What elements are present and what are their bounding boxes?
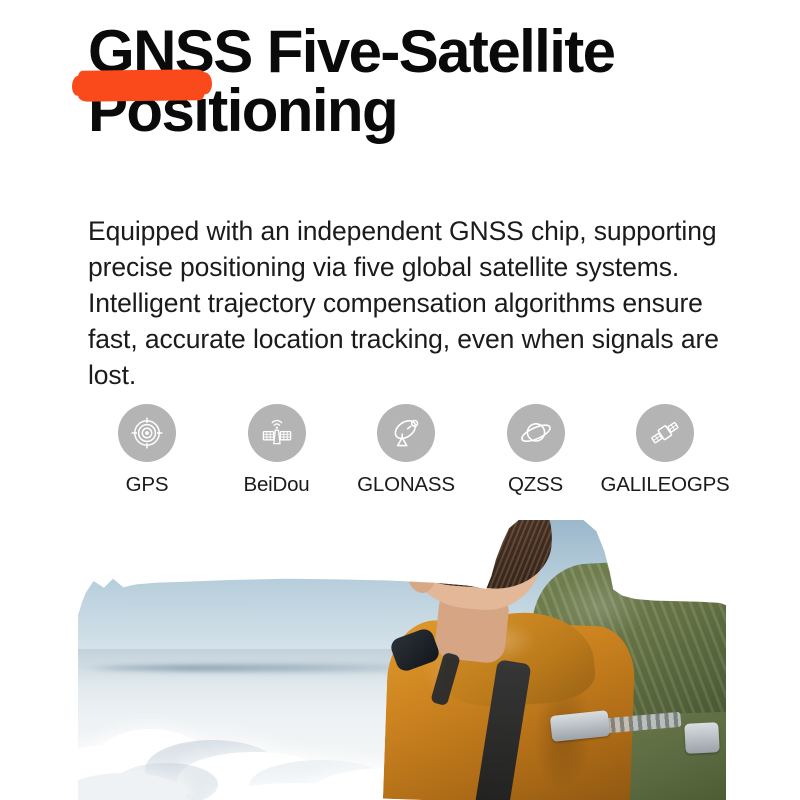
- gnss-icon-badge: [636, 404, 694, 462]
- hiker-figure: [383, 520, 726, 756]
- gnss-label-glonass: GLONASS: [357, 473, 455, 497]
- gps-target-icon: [130, 416, 164, 450]
- heading-block: GNSS Five-Satellite Positioning: [88, 22, 748, 141]
- page-title-line-1: GNSS Five-Satellite: [88, 22, 748, 81]
- gnss-item-gps: GPS: [88, 404, 206, 497]
- gnss-label-beidou: BeiDou: [243, 473, 309, 497]
- gnss-icon-badge: [507, 404, 565, 462]
- gnss-item-qzss: QZSS: [477, 404, 595, 497]
- hero-photo-wrap: [0, 520, 800, 800]
- description-paragraph: Equipped with an independent GNSS chip, …: [88, 213, 728, 393]
- gnss-label-gps: GPS: [126, 473, 169, 497]
- gnss-item-beidou: BeiDou: [218, 404, 336, 497]
- ringed-planet-icon: [519, 416, 553, 450]
- gnss-icon-badge: [118, 404, 176, 462]
- gnss-systems-row: GPS: [88, 404, 724, 497]
- gnss-icon-badge: [248, 404, 306, 462]
- orange-highlight-mark: [78, 69, 205, 102]
- gnss-label-qzss: QZSS: [508, 473, 563, 497]
- gnss-icon-badge: [377, 404, 435, 462]
- satellite-icon: [647, 415, 683, 451]
- satellite-signal-icon: [259, 415, 295, 451]
- gnss-label-galileogps: GALILEOGPS: [600, 473, 729, 497]
- page-title: GNSS Five-Satellite Positioning: [88, 22, 748, 141]
- gnss-item-glonass: GLONASS: [347, 404, 465, 497]
- satellite-dish-icon: [389, 416, 423, 450]
- gnss-item-galileogps: GALILEOGPS: [606, 404, 724, 497]
- hero-photo: [78, 520, 726, 800]
- pack-buckle-secondary: [684, 722, 720, 754]
- page-root: GNSS Five-Satellite Positioning Equipped…: [0, 0, 800, 800]
